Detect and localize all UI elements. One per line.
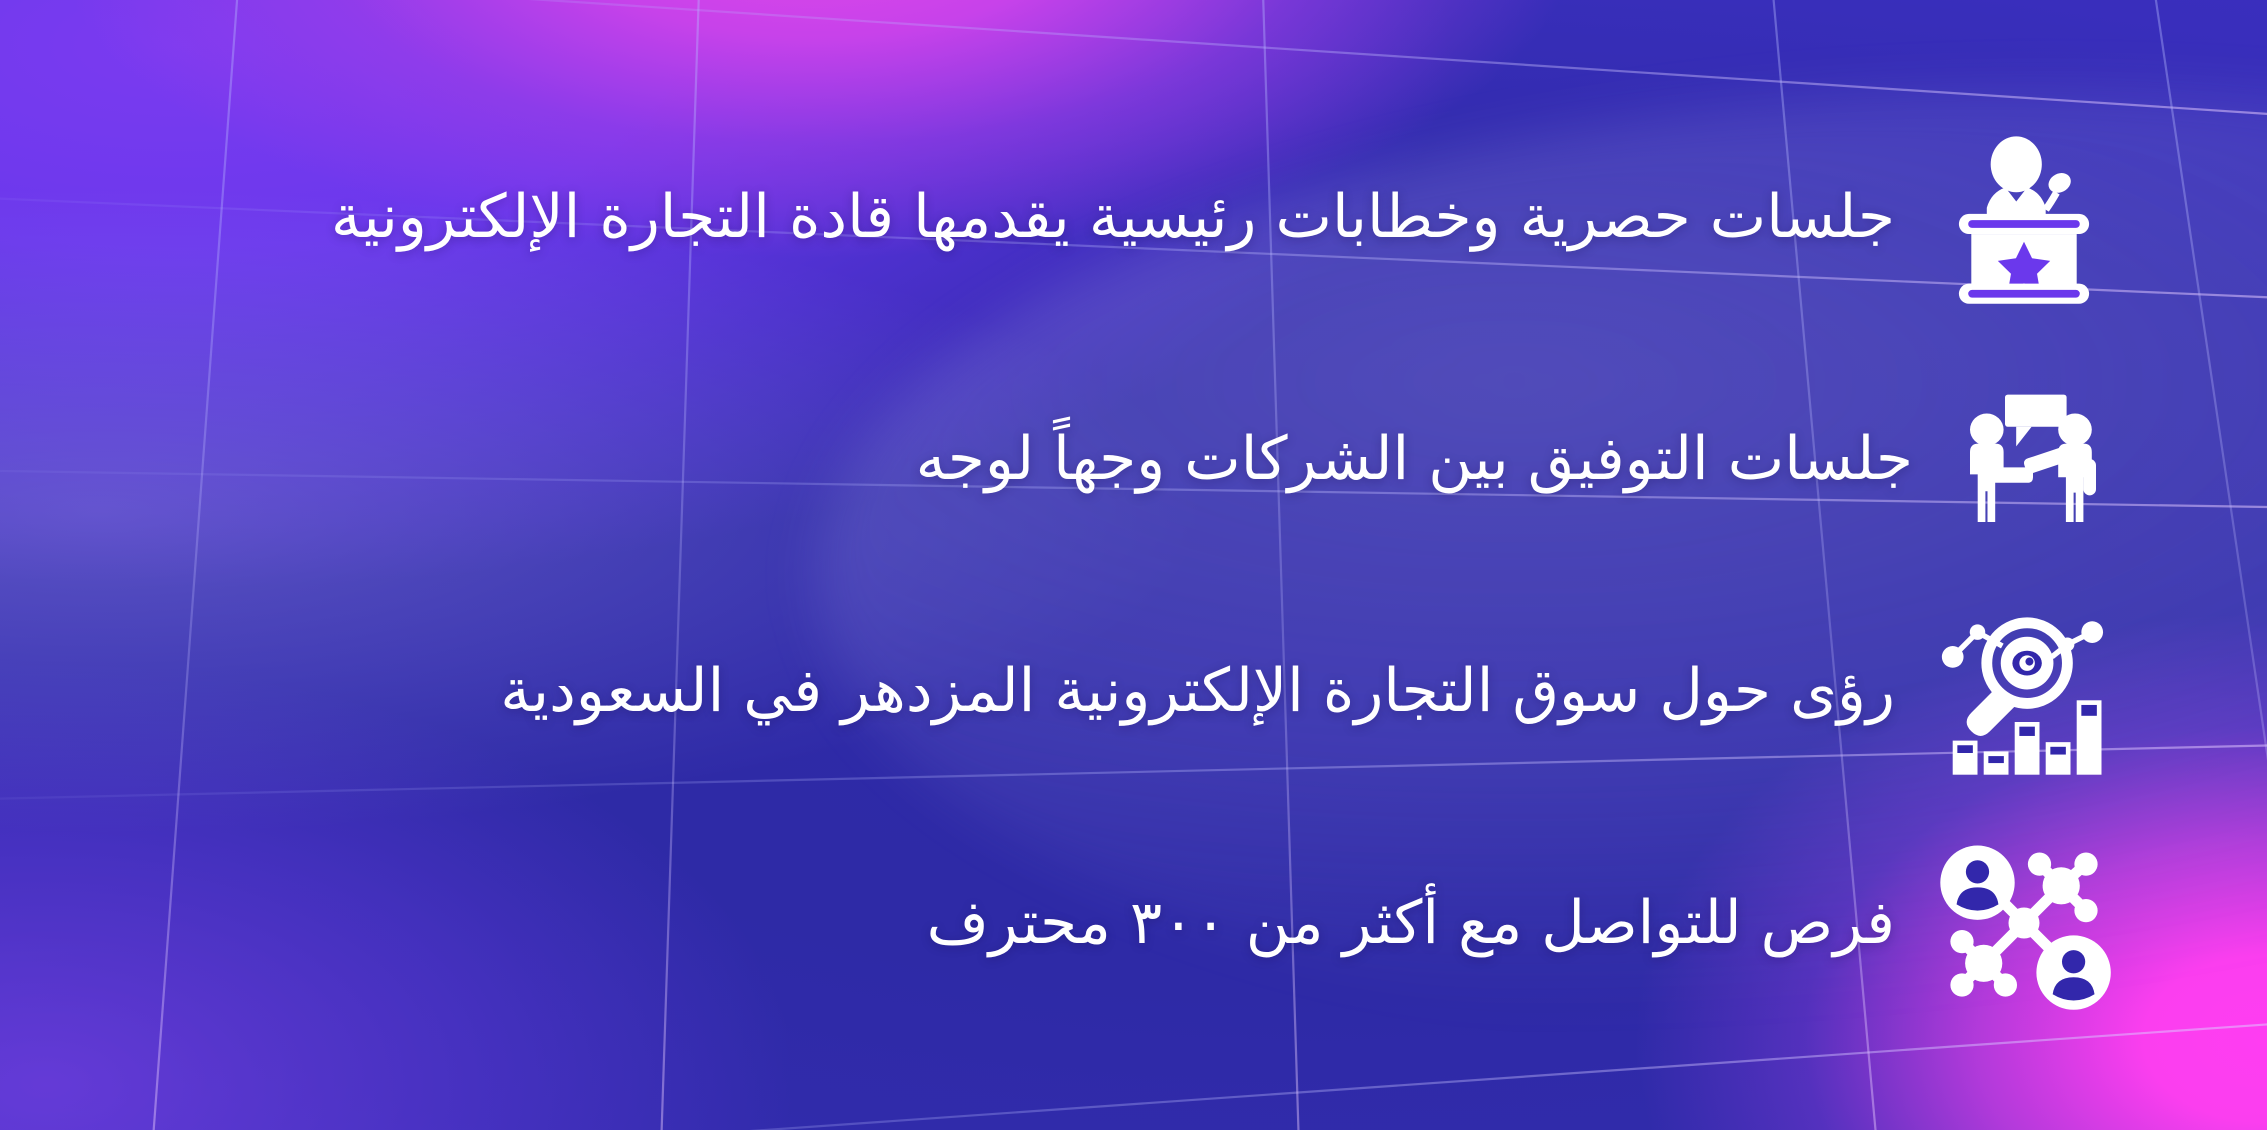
network-users-nodes-icon — [1931, 830, 2117, 1016]
feature-label: جلسات حصرية وخطابات رئيسية يقدمها قادة ا… — [331, 180, 1895, 255]
feature-item-keynote-sessions: جلسات حصرية وخطابات رئيسية يقدمها قادة ا… — [0, 91, 2267, 343]
features-list: جلسات حصرية وخطابات رئيسية يقدمها قادة ا… — [0, 0, 2267, 1130]
feature-label: رؤى حول سوق التجارة الإلكترونية المزدهر … — [500, 654, 1895, 729]
feature-item-networking: فرص للتواصل مع أكثر من ٣٠٠ محترف — [0, 807, 2267, 1039]
slide-canvas: جلسات حصرية وخطابات رئيسية يقدمها قادة ا… — [0, 0, 2267, 1130]
feature-item-b2b-matchmaking: جلسات التوفيق بين الشركات وجهاً لوجه — [0, 343, 2267, 575]
feature-label: جلسات التوفيق بين الشركات وجهاً لوجه — [916, 422, 1913, 497]
feature-label: فرص للتواصل مع أكثر من ٣٠٠ محترف — [927, 886, 1895, 961]
handshake-speech-bubble-icon — [1949, 375, 2117, 543]
podium-speaker-star-icon — [1931, 124, 2117, 310]
magnifier-eye-bar-chart-icon — [1931, 598, 2117, 784]
feature-item-market-insights: رؤى حول سوق التجارة الإلكترونية المزدهر … — [0, 575, 2267, 807]
